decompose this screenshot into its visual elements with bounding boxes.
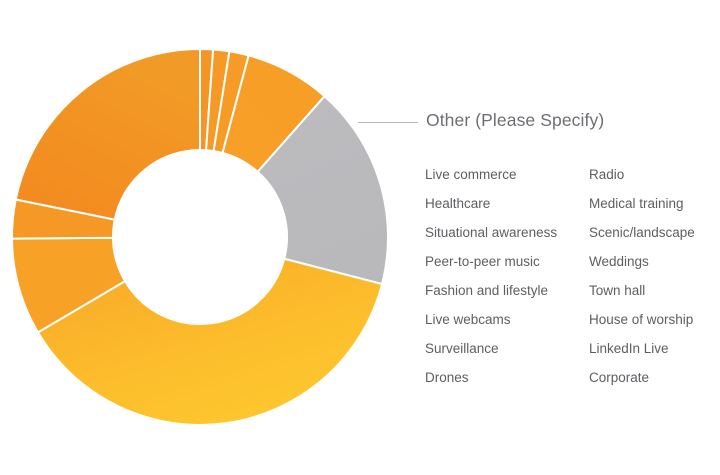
other-item: Live commerce [425, 160, 589, 189]
other-items-right-column: RadioMedical trainingScenic/landscapeWed… [589, 160, 720, 392]
other-item: Fashion and lifestyle [425, 276, 589, 305]
donut-slice-group [12, 49, 388, 425]
other-item: House of worship [589, 305, 720, 334]
other-item: Live webcams [425, 305, 589, 334]
other-items-left-column: Live commerceHealthcareSituational aware… [425, 160, 589, 392]
other-item: Corporate [589, 363, 720, 392]
other-item: Radio [589, 160, 720, 189]
other-item: Situational awareness [425, 218, 589, 247]
other-item: Peer-to-peer music [425, 247, 589, 276]
other-item: Drones [425, 363, 589, 392]
callout-leader-line [358, 122, 418, 123]
other-item: Scenic/landscape [589, 218, 720, 247]
other-item: LinkedIn Live [589, 334, 720, 363]
other-item: Medical training [589, 189, 720, 218]
other-item-columns: Live commerceHealthcareSituational aware… [425, 160, 720, 392]
other-please-specify-label: Other (Please Specify) [426, 110, 604, 131]
other-item: Weddings [589, 247, 720, 276]
donut-chart-figure: Other (Please Specify) Live commerceHeal… [0, 0, 720, 475]
other-item: Surveillance [425, 334, 589, 363]
donut-slice[interactable] [16, 49, 200, 220]
other-item: Town hall [589, 276, 720, 305]
other-item: Healthcare [425, 189, 589, 218]
